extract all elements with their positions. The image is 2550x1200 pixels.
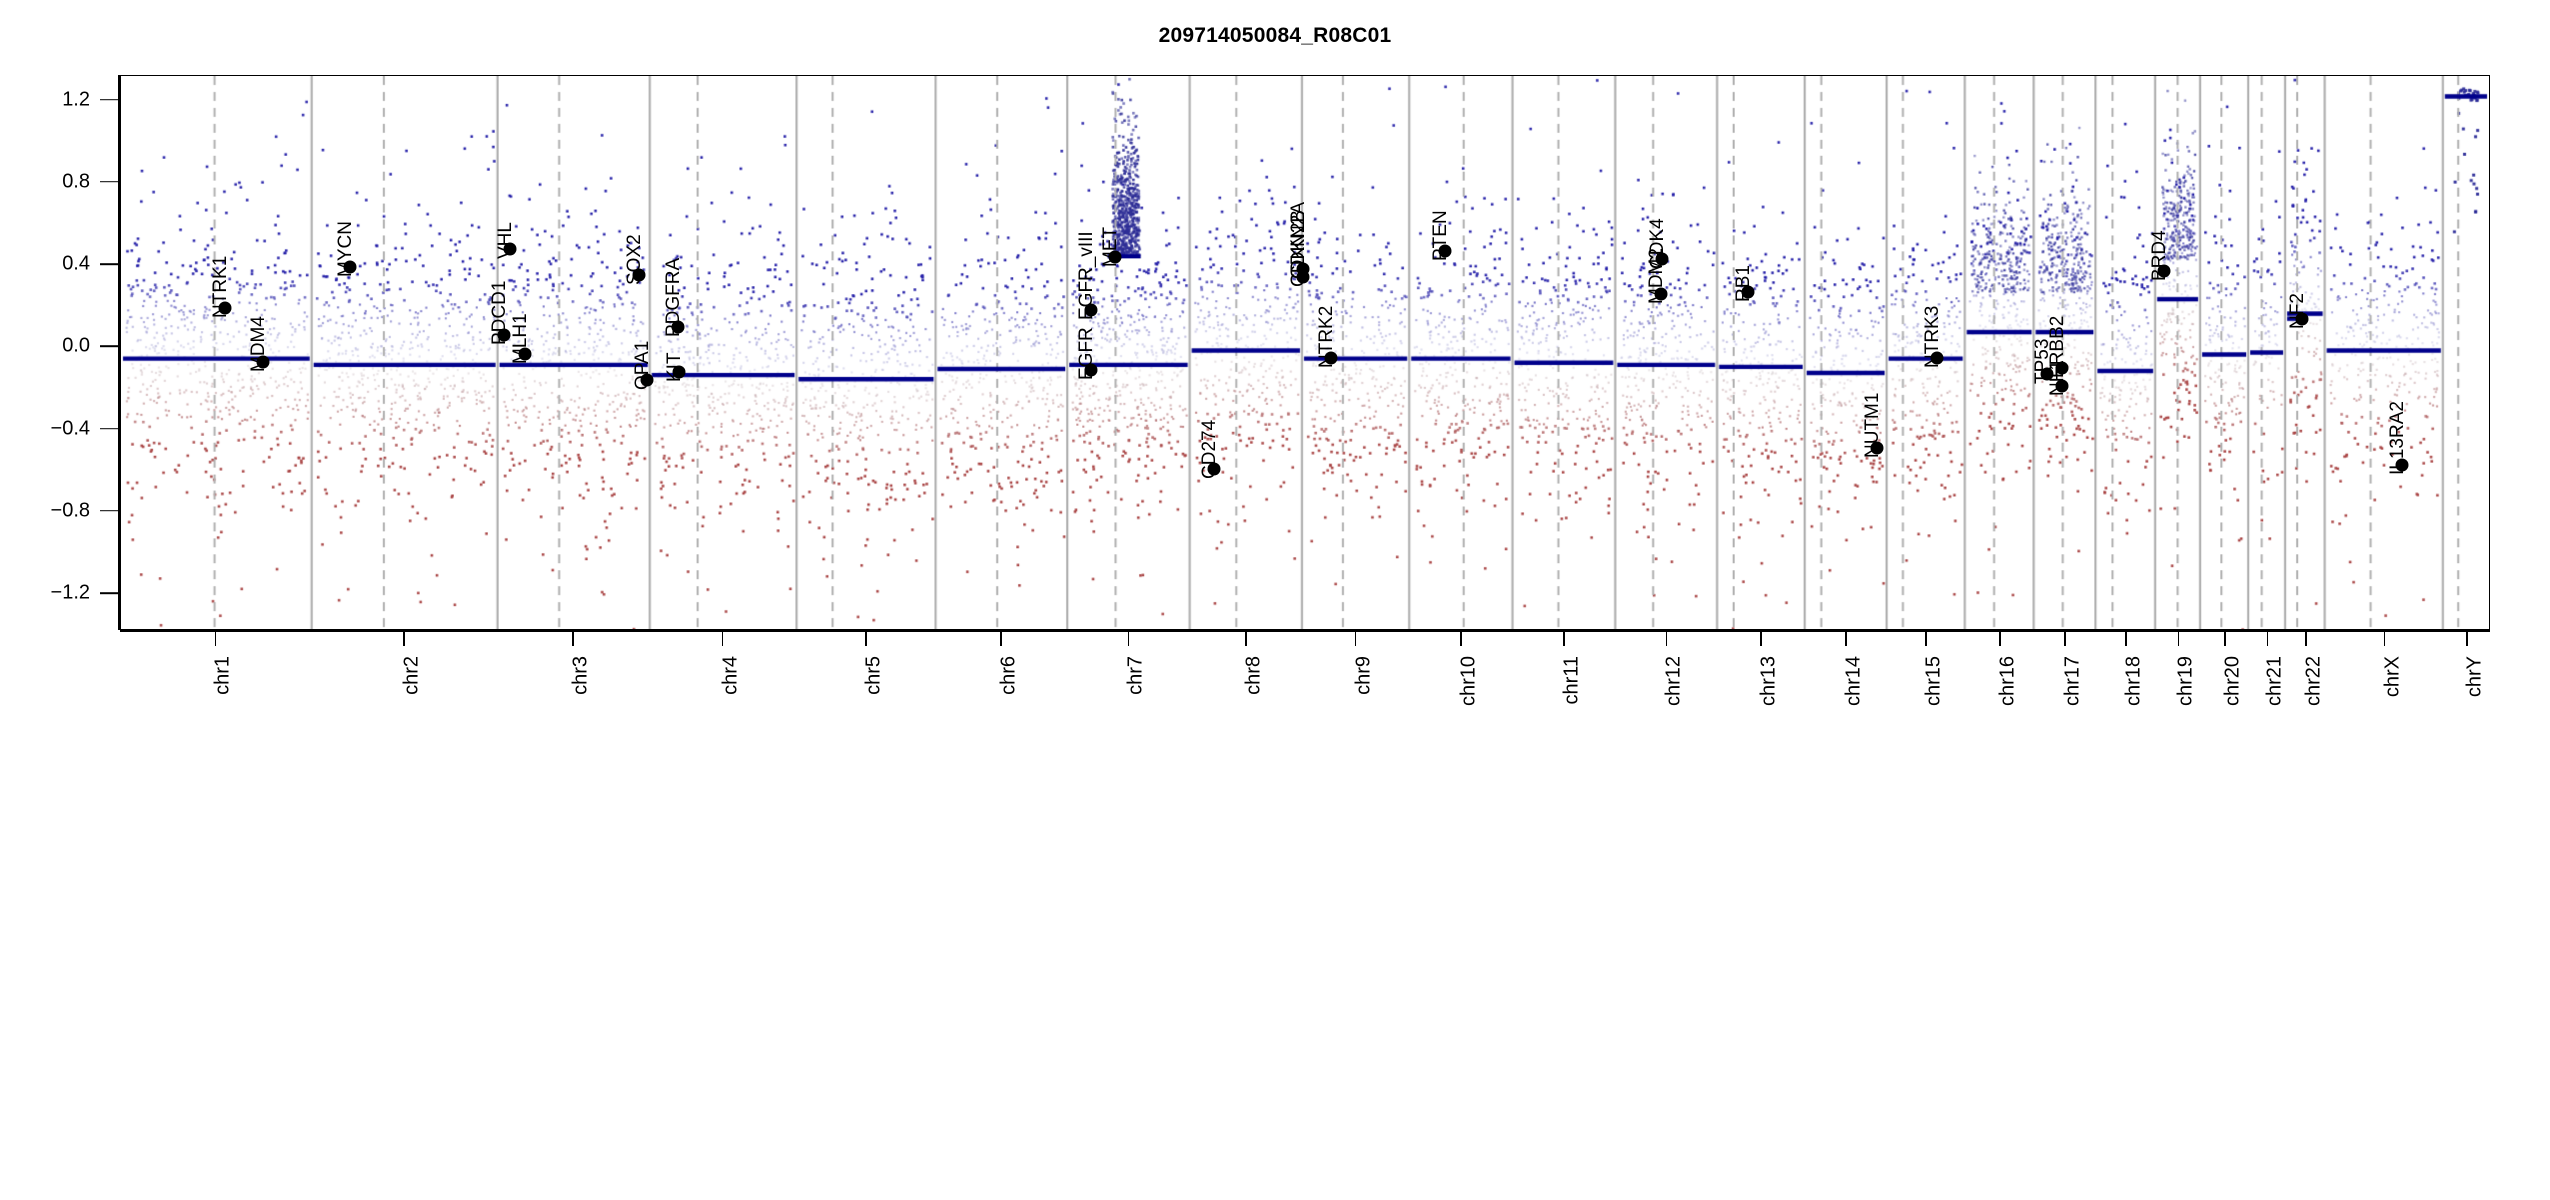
x-tick-mark	[2384, 630, 2386, 646]
x-tick-mark	[2125, 630, 2127, 646]
gene-label-kit: KIT	[664, 352, 686, 382]
x-tick-mark	[1000, 630, 1002, 646]
x-tick-mark	[1563, 630, 1565, 646]
x-tick-label-chr17: chr17	[2062, 656, 2085, 706]
x-tick-label-chr20: chr20	[2221, 656, 2244, 706]
x-tick-mark	[215, 630, 217, 646]
gene-label-opa1: OPA1	[632, 341, 654, 390]
x-tick-mark	[2267, 630, 2269, 646]
gene-label-brd4: BRD4	[2149, 231, 2171, 282]
gene-label-pdcd1: PDCD1	[489, 281, 511, 345]
gene-label-pdgfra: PDGFRA	[663, 258, 685, 337]
y-tick-label: −0.4	[51, 417, 90, 440]
gene-label-mdm4: MDM4	[248, 316, 270, 372]
gene-label-rb1: RB1	[1733, 265, 1755, 302]
y-tick-mark	[100, 592, 120, 594]
y-tick-label: −0.8	[51, 499, 90, 522]
gene-label-mycn: MYCN	[335, 221, 357, 277]
x-tick-label-chr7: chr7	[1125, 656, 1148, 695]
x-tick-mark	[2224, 630, 2226, 646]
y-tick-label: 0.8	[62, 170, 90, 193]
plot-area	[120, 75, 2490, 630]
x-tick-mark	[1925, 630, 1927, 646]
gene-label-ntrk1: NTRK1	[210, 256, 232, 318]
y-tick-label: 0.4	[62, 253, 90, 276]
x-tick-label-chrY: chrY	[2463, 656, 2486, 697]
gene-label-nutm1: NUTM1	[1862, 393, 1884, 458]
x-tick-mark	[2178, 630, 2180, 646]
x-tick-label-chrX: chrX	[2381, 656, 2404, 697]
page-title: 209714050084_R08C01	[0, 24, 2550, 48]
x-tick-label-chr5: chr5	[862, 656, 885, 695]
x-tick-mark	[2064, 630, 2066, 646]
x-tick-label-chr16: chr16	[1996, 656, 2019, 706]
x-tick-label-chr18: chr18	[2122, 656, 2145, 706]
gene-label-pten: PTEN	[1430, 210, 1452, 261]
x-tick-label-chr9: chr9	[1352, 656, 1375, 695]
y-tick-mark	[100, 99, 120, 101]
x-tick-label-chr2: chr2	[400, 656, 423, 695]
x-tick-label-chr10: chr10	[1457, 656, 1480, 706]
x-tick-label-chr12: chr12	[1663, 656, 1686, 706]
x-axis-line	[120, 630, 2490, 632]
gene-label-egfr_viii: EGFR_vIII	[1076, 232, 1098, 321]
gene-label-ntrk3: NTRK3	[1922, 305, 1944, 367]
gene-label-il13ra2: IL13RA2	[2387, 401, 2409, 475]
y-tick-mark	[100, 263, 120, 265]
x-tick-mark	[1355, 630, 1357, 646]
x-tick-mark	[1845, 630, 1847, 646]
x-tick-label-chr15: chr15	[1923, 656, 1946, 706]
x-tick-mark	[403, 630, 405, 646]
gene-label-met: MET	[1100, 227, 1122, 267]
gene-label-vhl: VHL	[495, 222, 517, 259]
gene-label-egfr: EGFR	[1076, 327, 1098, 380]
x-tick-label-chr3: chr3	[570, 656, 593, 695]
x-tick-label-chr11: chr11	[1561, 656, 1584, 705]
x-tick-mark	[1128, 630, 1130, 646]
x-tick-mark	[2466, 630, 2468, 646]
y-tick-mark	[100, 346, 120, 348]
gene-label-nf2: NF2	[2287, 293, 2309, 329]
x-tick-mark	[2305, 630, 2307, 646]
x-tick-mark	[722, 630, 724, 646]
y-tick-label: −1.2	[51, 582, 90, 605]
y-tick-mark	[100, 428, 120, 430]
y-tick-mark	[100, 181, 120, 183]
x-tick-label-chr21: chr21	[2264, 656, 2287, 706]
x-tick-mark	[1760, 630, 1762, 646]
y-axis: 1.20.80.40.0−0.4−0.8−1.2	[0, 75, 120, 630]
copy-number-plot-page: 209714050084_R08C01 1.20.80.40.0−0.4−0.8…	[0, 0, 2550, 1200]
gene-label-mlh1: MLH1	[510, 313, 532, 364]
gene-label-sox2: SOX2	[624, 235, 646, 286]
gene-label-ntrk2: NTRK2	[1316, 305, 1338, 367]
x-tick-mark	[1460, 630, 1462, 646]
gene-label-cd274: CD274	[1199, 419, 1221, 478]
x-tick-mark	[865, 630, 867, 646]
y-tick-mark	[100, 510, 120, 512]
y-tick-label: 0.0	[62, 335, 90, 358]
x-tick-mark	[1666, 630, 1668, 646]
x-tick-label-chr22: chr22	[2302, 656, 2325, 706]
gene-label-cdkn2b: CDKN2B	[1288, 210, 1310, 287]
x-tick-label-chr19: chr19	[2175, 656, 2198, 706]
x-tick-label-chr13: chr13	[1758, 656, 1781, 706]
gene-label-cdk4: CDK4	[1647, 218, 1669, 269]
x-tick-mark	[1999, 630, 2001, 646]
x-axis: chr1chr2chr3chr4chr5chr6chr7chr8chr9chr1…	[120, 630, 2490, 690]
y-tick-label: 1.2	[62, 88, 90, 111]
x-tick-label-chr1: chr1	[212, 656, 235, 695]
scatter-canvas	[121, 76, 2489, 629]
x-tick-mark	[572, 630, 574, 646]
x-tick-label-chr6: chr6	[998, 656, 1021, 695]
gene-label-erbb2: ERBB2	[2047, 316, 2069, 378]
x-tick-label-chr14: chr14	[1843, 656, 1866, 706]
x-tick-mark	[1245, 630, 1247, 646]
x-tick-label-chr8: chr8	[1242, 656, 1265, 695]
x-tick-label-chr4: chr4	[719, 656, 742, 695]
